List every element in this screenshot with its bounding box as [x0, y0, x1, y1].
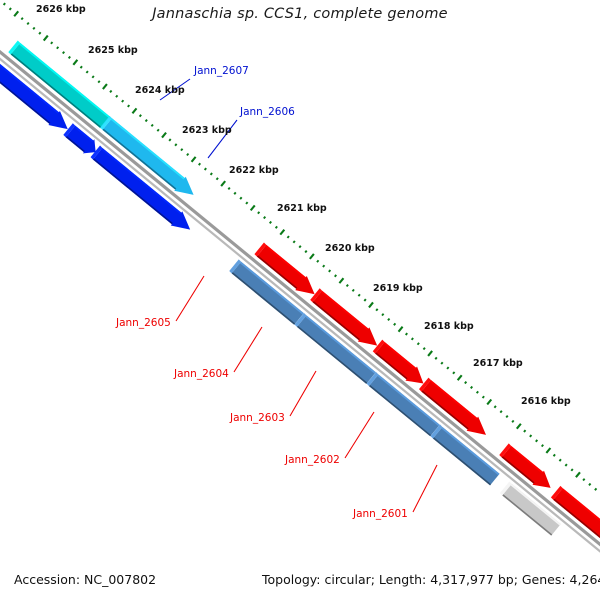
- leader-line-jann_2602: [345, 412, 374, 458]
- genome-map-canvas: [0, 0, 600, 600]
- ruler-tick-label-2624: 2624 kbp: [135, 85, 185, 96]
- leader-line-jann_2601: [413, 465, 437, 512]
- ruler-tick-label-2617: 2617 kbp: [473, 358, 523, 369]
- accession-text: Accession: NC_007802: [14, 572, 156, 587]
- leader-line-jann_2603: [290, 371, 316, 416]
- gene-label-jann_2604[interactable]: Jann_2604: [174, 368, 229, 380]
- gene-label-jann_2606[interactable]: Jann_2606: [240, 106, 295, 118]
- ruler-tick-label-2619: 2619 kbp: [373, 283, 423, 294]
- genome-map-viewport: Jannaschia sp. CCS1, complete genome 262…: [0, 0, 600, 600]
- gene-label-jann_2607[interactable]: Jann_2607: [194, 65, 249, 77]
- genome-backbone: [0, 9, 600, 593]
- ruler-tick-label-2622: 2622 kbp: [229, 165, 279, 176]
- gene-label-jann_2601[interactable]: Jann_2601: [353, 508, 408, 520]
- gene-gray-2601[interactable]: [500, 481, 561, 535]
- gene-label-jann_2602[interactable]: Jann_2602: [285, 454, 340, 466]
- ruler-tick-label-2620: 2620 kbp: [325, 243, 375, 254]
- leader-line-jann_2605: [176, 276, 204, 321]
- ruler-tick-label-2616: 2616 kbp: [521, 396, 571, 407]
- gene-cyan-2606[interactable]: [100, 116, 194, 195]
- page-title: Jannaschia sp. CCS1, complete genome: [0, 6, 600, 22]
- ruler-tick-label-2625: 2625 kbp: [88, 45, 138, 56]
- gene-label-jann_2603[interactable]: Jann_2603: [230, 412, 285, 424]
- ruler-tick-label-2623: 2623 kbp: [182, 125, 232, 136]
- leader-line-jann_2604: [234, 327, 262, 372]
- genome-stats-text: Topology: circular; Length: 4,317,977 bp…: [262, 572, 600, 587]
- gene-label-jann_2605[interactable]: Jann_2605: [116, 317, 171, 329]
- ruler-tick-label-2626: 2626 kbp: [36, 4, 86, 15]
- ruler-tick-label-2621: 2621 kbp: [277, 203, 327, 214]
- ruler-tick-label-2618: 2618 kbp: [424, 321, 474, 332]
